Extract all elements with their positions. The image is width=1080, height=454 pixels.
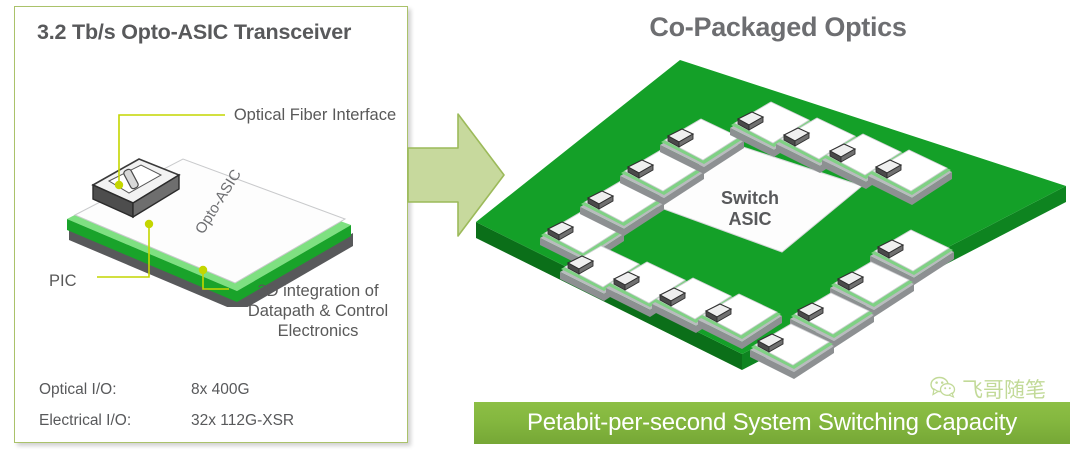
spec-label-electrical-io: Electrical I/O:	[39, 412, 191, 430]
spec-table: Optical I/O: 8x 400G Electrical I/O: 32x…	[39, 381, 389, 443]
co-packaged-optics-board	[462, 52, 1078, 382]
slide-canvas: 3.2 Tb/s Opto-ASIC Transceiver	[0, 0, 1080, 454]
callout-3d-integration: 3D integration of Datapath & Control Ele…	[227, 281, 409, 341]
spec-row-electrical-io: Electrical I/O: 32x 112G-XSR	[39, 412, 389, 430]
capacity-banner-text: Petabit-per-second System Switching Capa…	[527, 409, 1017, 437]
capacity-banner: Petabit-per-second System Switching Capa…	[474, 402, 1070, 444]
spec-row-optical-io: Optical I/O: 8x 400G	[39, 381, 389, 399]
callout-pic: PIC	[49, 271, 109, 291]
opto-asic-transceiver-panel: 3.2 Tb/s Opto-ASIC Transceiver	[14, 6, 408, 443]
panel-title: 3.2 Tb/s Opto-ASIC Transceiver	[37, 20, 351, 45]
right-panel-title: Co-Packaged Optics	[608, 12, 948, 43]
spec-value-electrical-io: 32x 112G-XSR	[191, 412, 294, 430]
callout-optical-fiber-interface: Optical Fiber Interface	[225, 105, 405, 125]
spec-value-optical-io: 8x 400G	[191, 381, 250, 399]
spec-label-optical-io: Optical I/O:	[39, 381, 191, 399]
